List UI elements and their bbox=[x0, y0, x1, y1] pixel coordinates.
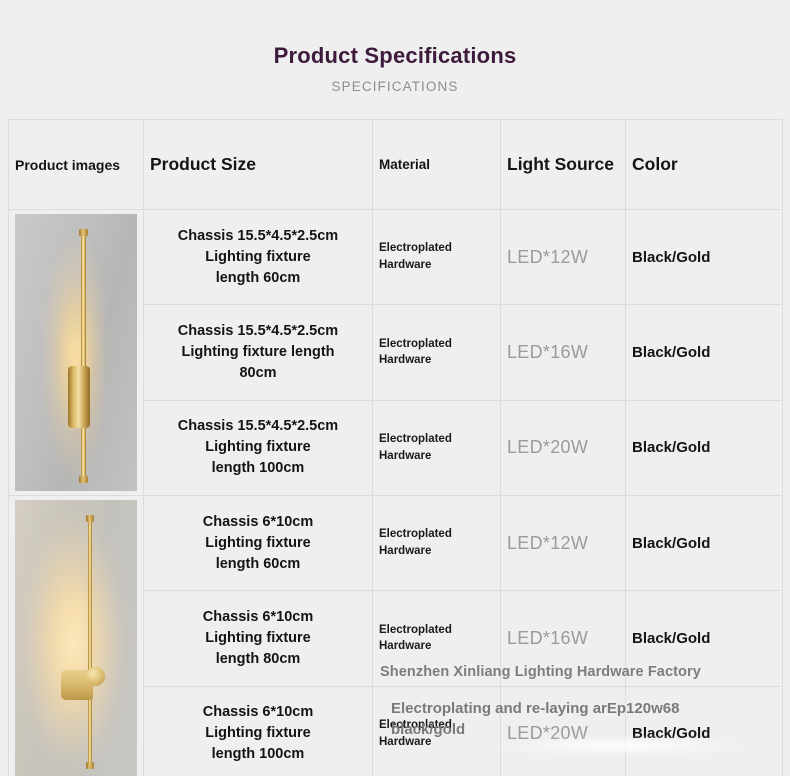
gold-rod-wall-lamp-image bbox=[15, 500, 137, 776]
cell-material: Electroplated Hardware bbox=[373, 686, 501, 776]
size-line: Chassis 6*10cm bbox=[150, 607, 366, 628]
size-line: Chassis 15.5*4.5*2.5cm bbox=[150, 321, 366, 342]
size-line: Lighting fixture length bbox=[150, 342, 366, 363]
material-line: Hardware bbox=[379, 352, 494, 369]
size-line: Chassis 15.5*4.5*2.5cm bbox=[150, 416, 366, 437]
column-header-product-images: Product images bbox=[9, 120, 144, 210]
cell-color: Black/Gold bbox=[626, 400, 783, 495]
material-line: Electroplated bbox=[379, 622, 494, 639]
table-row: Chassis 15.5*4.5*2.5cm Lighting fixture … bbox=[9, 210, 783, 305]
material-line: Hardware bbox=[379, 638, 494, 655]
column-header-material: Material bbox=[373, 120, 501, 210]
cell-product-size: Chassis 6*10cm Lighting fixture length 8… bbox=[144, 591, 373, 686]
product-specifications-table: Product images Product Size Material Lig… bbox=[8, 119, 783, 776]
material-line: Hardware bbox=[379, 448, 494, 465]
page-subtitle: SPECIFICATIONS bbox=[0, 79, 790, 94]
spec-table-container: Product images Product Size Material Lig… bbox=[8, 119, 782, 776]
lamp-bottom-cap bbox=[79, 476, 88, 483]
material-line: Electroplated bbox=[379, 336, 494, 353]
cell-material: Electroplated Hardware bbox=[373, 305, 501, 400]
lamp-bottom-cap bbox=[86, 762, 94, 769]
table-row: Chassis 6*10cm Lighting fixture length 6… bbox=[9, 496, 783, 591]
page-title: Product Specifications bbox=[0, 44, 790, 68]
material-line: Electroplated bbox=[379, 431, 494, 448]
size-line: Chassis 6*10cm bbox=[150, 702, 366, 723]
size-line: length 100cm bbox=[150, 744, 366, 765]
cell-light-source: LED*12W bbox=[501, 496, 626, 591]
cell-product-size: Chassis 15.5*4.5*2.5cm Lighting fixture … bbox=[144, 305, 373, 400]
cell-color: Black/Gold bbox=[626, 591, 783, 686]
size-line: 80cm bbox=[150, 363, 366, 384]
lamp-top-cap bbox=[79, 229, 88, 236]
cell-material: Electroplated Hardware bbox=[373, 400, 501, 495]
cell-color: Black/Gold bbox=[626, 686, 783, 776]
size-line: Lighting fixture bbox=[150, 723, 366, 744]
lamp-wall-mount bbox=[68, 366, 90, 428]
material-line: Electroplated bbox=[379, 717, 494, 734]
size-line: Lighting fixture bbox=[150, 247, 366, 268]
product-specifications-page: Product Specifications SPECIFICATIONS Pr… bbox=[0, 0, 790, 776]
column-header-light-source: Light Source bbox=[501, 120, 626, 210]
cell-light-source: LED*20W bbox=[501, 400, 626, 495]
gold-bar-wall-lamp-image bbox=[15, 214, 137, 491]
cell-product-size: Chassis 6*10cm Lighting fixture length 6… bbox=[144, 496, 373, 591]
cell-product-size: Chassis 6*10cm Lighting fixture length 1… bbox=[144, 686, 373, 776]
material-line: Electroplated bbox=[379, 240, 494, 257]
size-line: Lighting fixture bbox=[150, 628, 366, 649]
product-image-cell-2[interactable] bbox=[9, 496, 144, 776]
table-body: Chassis 15.5*4.5*2.5cm Lighting fixture … bbox=[9, 210, 783, 776]
lamp-glow bbox=[43, 226, 105, 488]
cell-color: Black/Gold bbox=[626, 210, 783, 305]
lamp-glow bbox=[15, 504, 125, 776]
product-image-cell-1[interactable] bbox=[9, 210, 144, 496]
column-header-product-size: Product Size bbox=[144, 120, 373, 210]
material-line: Hardware bbox=[379, 543, 494, 560]
size-line: length 100cm bbox=[150, 458, 366, 479]
cell-color: Black/Gold bbox=[626, 305, 783, 400]
cell-light-source: LED*16W bbox=[501, 305, 626, 400]
lamp-top-cap bbox=[86, 515, 94, 522]
cell-material: Electroplated Hardware bbox=[373, 591, 501, 686]
lamp-knob bbox=[86, 667, 105, 686]
cell-light-source: LED*20W bbox=[501, 686, 626, 776]
size-line: length 60cm bbox=[150, 268, 366, 289]
material-line: Electroplated bbox=[379, 526, 494, 543]
cell-product-size: Chassis 15.5*4.5*2.5cm Lighting fixture … bbox=[144, 210, 373, 305]
column-header-color: Color bbox=[626, 120, 783, 210]
page-heading: Product Specifications SPECIFICATIONS bbox=[0, 0, 790, 94]
cell-product-size: Chassis 15.5*4.5*2.5cm Lighting fixture … bbox=[144, 400, 373, 495]
lamp-rod bbox=[88, 518, 92, 768]
lamp-bar bbox=[81, 232, 86, 482]
size-line: Chassis 6*10cm bbox=[150, 512, 366, 533]
cell-color: Black/Gold bbox=[626, 496, 783, 591]
table-header-row: Product images Product Size Material Lig… bbox=[9, 120, 783, 210]
cell-material: Electroplated Hardware bbox=[373, 496, 501, 591]
cell-material: Electroplated Hardware bbox=[373, 210, 501, 305]
size-line: Chassis 15.5*4.5*2.5cm bbox=[150, 226, 366, 247]
size-line: length 60cm bbox=[150, 554, 366, 575]
material-line: Hardware bbox=[379, 734, 494, 751]
size-line: Lighting fixture bbox=[150, 533, 366, 554]
size-line: Lighting fixture bbox=[150, 437, 366, 458]
cell-light-source: LED*16W bbox=[501, 591, 626, 686]
size-line: length 80cm bbox=[150, 649, 366, 670]
cell-light-source: LED*12W bbox=[501, 210, 626, 305]
material-line: Hardware bbox=[379, 257, 494, 274]
